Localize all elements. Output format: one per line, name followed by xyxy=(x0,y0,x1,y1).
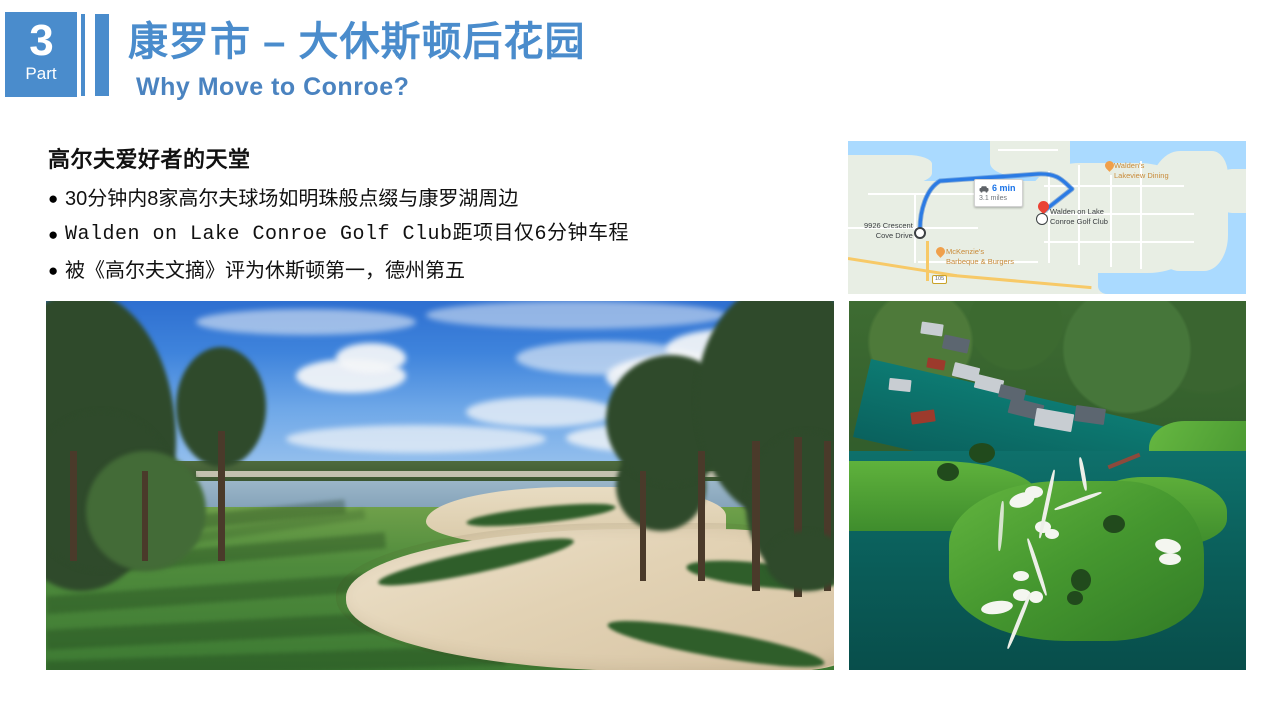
route-duration-badge: 6 min 3.1 miles xyxy=(974,179,1023,207)
cloud xyxy=(466,397,616,427)
tree xyxy=(969,443,995,463)
poi-label-line2: Barbeque & Burgers xyxy=(946,257,1014,266)
cloud xyxy=(196,309,416,335)
bullet-dot-icon: ● xyxy=(48,222,65,248)
tree xyxy=(1071,569,1091,591)
tree xyxy=(1067,591,1083,605)
content-heading: 高尔夫爱好者的天堂 xyxy=(48,142,251,174)
slide-title: 康罗市 – 大休斯顿后花园 xyxy=(128,18,585,66)
origin-label-line1: 9926 Crescent xyxy=(864,221,913,230)
cloud xyxy=(336,343,406,373)
golf-course-photo xyxy=(46,301,834,670)
poi-label-line1: McKenzie's xyxy=(946,247,984,256)
part-number: 3 xyxy=(5,12,77,64)
tree-trunk xyxy=(142,471,148,561)
tree-trunk xyxy=(640,471,646,581)
aerial-photo xyxy=(849,301,1246,670)
sand-trap xyxy=(1159,553,1181,565)
route-distance: 3.1 miles xyxy=(979,194,1016,203)
tree-trunk xyxy=(218,431,225,561)
destination-label-line2: Conroe Golf Club xyxy=(1050,217,1108,226)
part-label: Part xyxy=(5,64,77,84)
route-map: 6 min 3.1 miles Walden on Lake Conroe Go… xyxy=(848,141,1246,294)
route-duration: 6 min xyxy=(992,183,1016,194)
list-item: ● Walden on Lake Conroe Golf Club距项目仅6分钟… xyxy=(48,222,828,248)
list-item-label: Walden on Lake Conroe Golf Club距项目仅6分钟车程 xyxy=(65,222,629,248)
poi-label-lakeview-dining: Walden's Lakeview Dining xyxy=(1114,161,1169,180)
sand-trap xyxy=(1045,529,1059,539)
origin-label: 9926 Crescent Cove Drive xyxy=(864,221,913,240)
tree xyxy=(1103,515,1125,533)
sand-trap xyxy=(1029,591,1043,603)
poi-label-line2: Lakeview Dining xyxy=(1114,171,1169,180)
house-roof xyxy=(888,378,911,392)
tree-trunk xyxy=(698,451,705,581)
tree-trunk xyxy=(752,441,760,591)
poi-label-line1: Walden's xyxy=(1114,161,1144,170)
destination-label-line1: Walden on Lake xyxy=(1050,207,1104,216)
list-item-label: 30分钟内8家高尔夫球场如明珠般点缀与康罗湖周边 xyxy=(65,186,518,212)
car-icon xyxy=(979,185,989,193)
list-item-label: 被《高尔夫文摘》评为休斯顿第一，德州第五 xyxy=(65,258,465,284)
cloud xyxy=(286,425,546,453)
bullet-dot-icon: ● xyxy=(48,186,65,212)
origin-label-line2: Cove Drive xyxy=(876,231,913,240)
part-badge: 3 Part xyxy=(5,12,77,97)
highway-shield: 105 xyxy=(932,275,947,284)
poi-label-mckenzies: McKenzie's Barbeque & Burgers xyxy=(946,247,1014,266)
list-item: ● 30分钟内8家高尔夫球场如明珠般点缀与康罗湖周边 xyxy=(48,186,828,212)
sand-trap xyxy=(1025,486,1043,498)
tree-trunk xyxy=(70,451,77,561)
tree xyxy=(937,463,959,481)
destination-target-icon xyxy=(1036,213,1048,225)
accent-bar-thick xyxy=(95,14,109,96)
bullet-list: ● 30分钟内8家高尔夫球场如明珠般点缀与康罗湖周边 ● Walden on L… xyxy=(48,186,828,294)
bullet-dot-icon: ● xyxy=(48,258,65,284)
cloud xyxy=(426,301,726,329)
destination-label: Walden on Lake Conroe Golf Club xyxy=(1050,207,1108,226)
sand-trap xyxy=(1013,571,1029,581)
list-item: ● 被《高尔夫文摘》评为休斯顿第一，德州第五 xyxy=(48,258,828,284)
slide-subtitle: Why Move to Conroe? xyxy=(136,72,409,102)
accent-bar-thin xyxy=(81,14,85,96)
origin-marker-icon xyxy=(914,227,926,239)
slide-header: 3 Part 康罗市 – 大休斯顿后花园 Why Move to Conroe? xyxy=(0,0,1280,120)
